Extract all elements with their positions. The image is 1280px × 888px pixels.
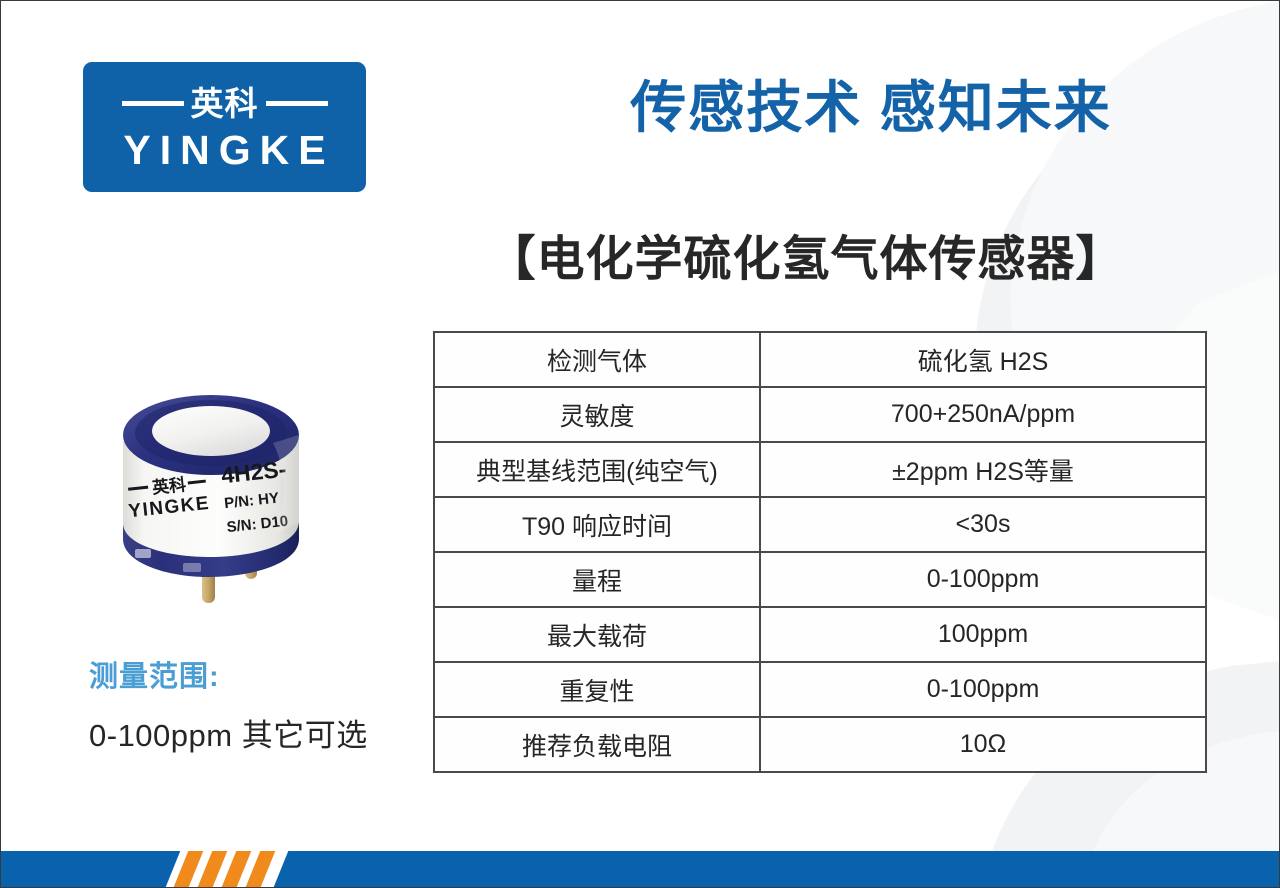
table-row: T90 响应时间 <30s [434, 497, 1206, 552]
spec-label: 检测气体 [434, 332, 760, 387]
spec-value: 0-100ppm [760, 662, 1206, 717]
logo-rule-left [122, 101, 184, 106]
measurement-range-value: 0-100ppm 其它可选 [89, 716, 368, 756]
specification-table: 检测气体 硫化氢 H2S 灵敏度 700+250nA/ppm 典型基线范围(纯空… [433, 331, 1207, 773]
table-row: 量程 0-100ppm [434, 552, 1206, 607]
spec-value: ±2ppm H2S等量 [760, 442, 1206, 497]
spec-label: 灵敏度 [434, 387, 760, 442]
logo-rule-right [266, 101, 328, 106]
header-tagline: 传感技术 感知未来 [581, 63, 1161, 144]
spec-value: 100ppm [760, 607, 1206, 662]
logo-en-text: YINGKE [83, 128, 366, 173]
spec-value: 700+250nA/ppm [760, 387, 1206, 442]
sensor-product-photo: 英科 YINGKE 4H2S- P/N: HY S/N: D10 [97, 373, 347, 623]
table-row: 典型基线范围(纯空气) ±2ppm H2S等量 [434, 442, 1206, 497]
table-row: 灵敏度 700+250nA/ppm [434, 387, 1206, 442]
table-row: 重复性 0-100ppm [434, 662, 1206, 717]
spec-sheet-page: 英科 YINGKE 传感技术 感知未来 【电化学硫化氢气体传感器】 [0, 0, 1280, 888]
table-row: 推荐负载电阻 10Ω [434, 717, 1206, 772]
svg-text:英科: 英科 [151, 474, 187, 497]
logo-cn-row: 英科 [83, 82, 366, 124]
spec-label: 重复性 [434, 662, 760, 717]
spec-value: <30s [760, 497, 1206, 552]
measurement-range-block: 测量范围: 0-100ppm 其它可选 [89, 656, 368, 756]
table-row: 最大载荷 100ppm [434, 607, 1206, 662]
spec-value: 10Ω [760, 717, 1206, 772]
company-logo: 英科 YINGKE [83, 62, 366, 192]
spec-label: T90 响应时间 [434, 497, 760, 552]
footer-bar [1, 851, 1279, 887]
page-title: 【电化学硫化氢气体传感器】 [426, 219, 1186, 289]
table-row: 检测气体 硫化氢 H2S [434, 332, 1206, 387]
spec-label: 典型基线范围(纯空气) [434, 442, 760, 497]
footer-stripe-panel [166, 851, 289, 887]
measurement-range-label: 测量范围: [89, 656, 368, 700]
spec-label: 量程 [434, 552, 760, 607]
spec-label: 推荐负载电阻 [434, 717, 760, 772]
spec-value: 0-100ppm [760, 552, 1206, 607]
logo-cn-text: 英科 [191, 87, 259, 120]
spec-label: 最大载荷 [434, 607, 760, 662]
spec-value: 硫化氢 H2S [760, 332, 1206, 387]
specification-table-body: 检测气体 硫化氢 H2S 灵敏度 700+250nA/ppm 典型基线范围(纯空… [434, 332, 1206, 772]
